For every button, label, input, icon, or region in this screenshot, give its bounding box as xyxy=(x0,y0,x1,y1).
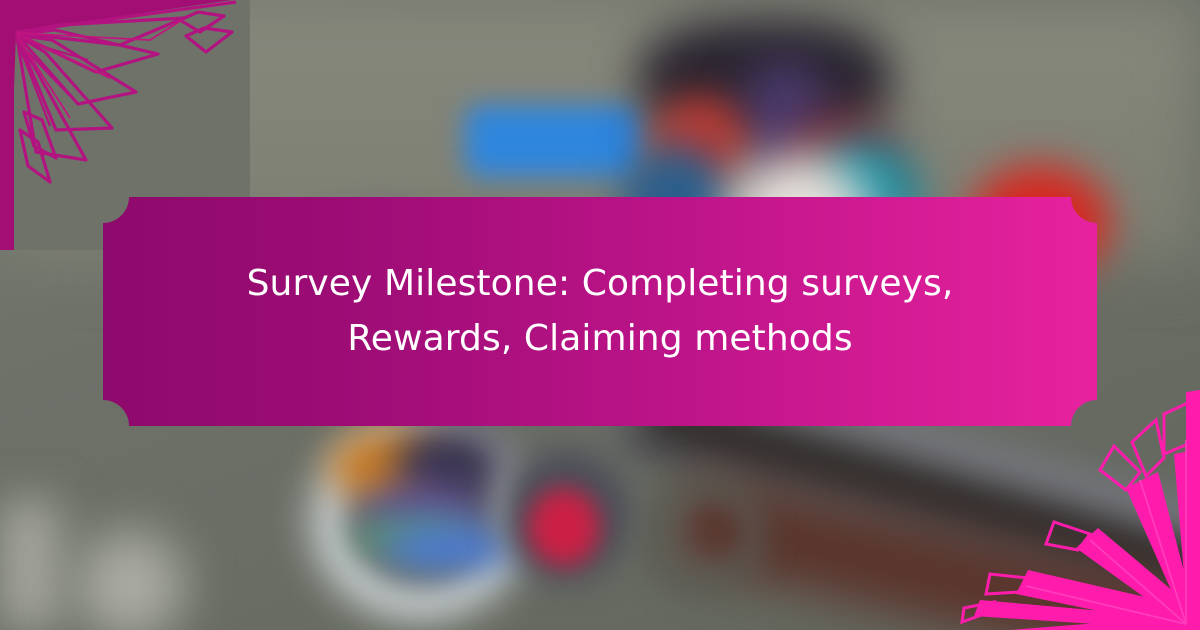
banner-canvas: Survey Milestone: Completing surveys, Re… xyxy=(0,0,1200,630)
background-badge-inner xyxy=(528,488,600,566)
background-left-light-b xyxy=(75,530,185,630)
background-left-light-a xyxy=(0,500,60,630)
background-ring-blue xyxy=(385,525,515,570)
title-banner-text: Survey Milestone: Completing surveys, Re… xyxy=(103,197,1097,426)
background-blue-screen xyxy=(465,105,645,177)
background-gray-ring xyxy=(630,460,780,610)
title-line-1: Survey Milestone: Completing surveys, xyxy=(247,257,954,312)
title-banner: Survey Milestone: Completing surveys, Re… xyxy=(103,197,1097,426)
title-line-2: Rewards, Claiming methods xyxy=(347,312,852,367)
